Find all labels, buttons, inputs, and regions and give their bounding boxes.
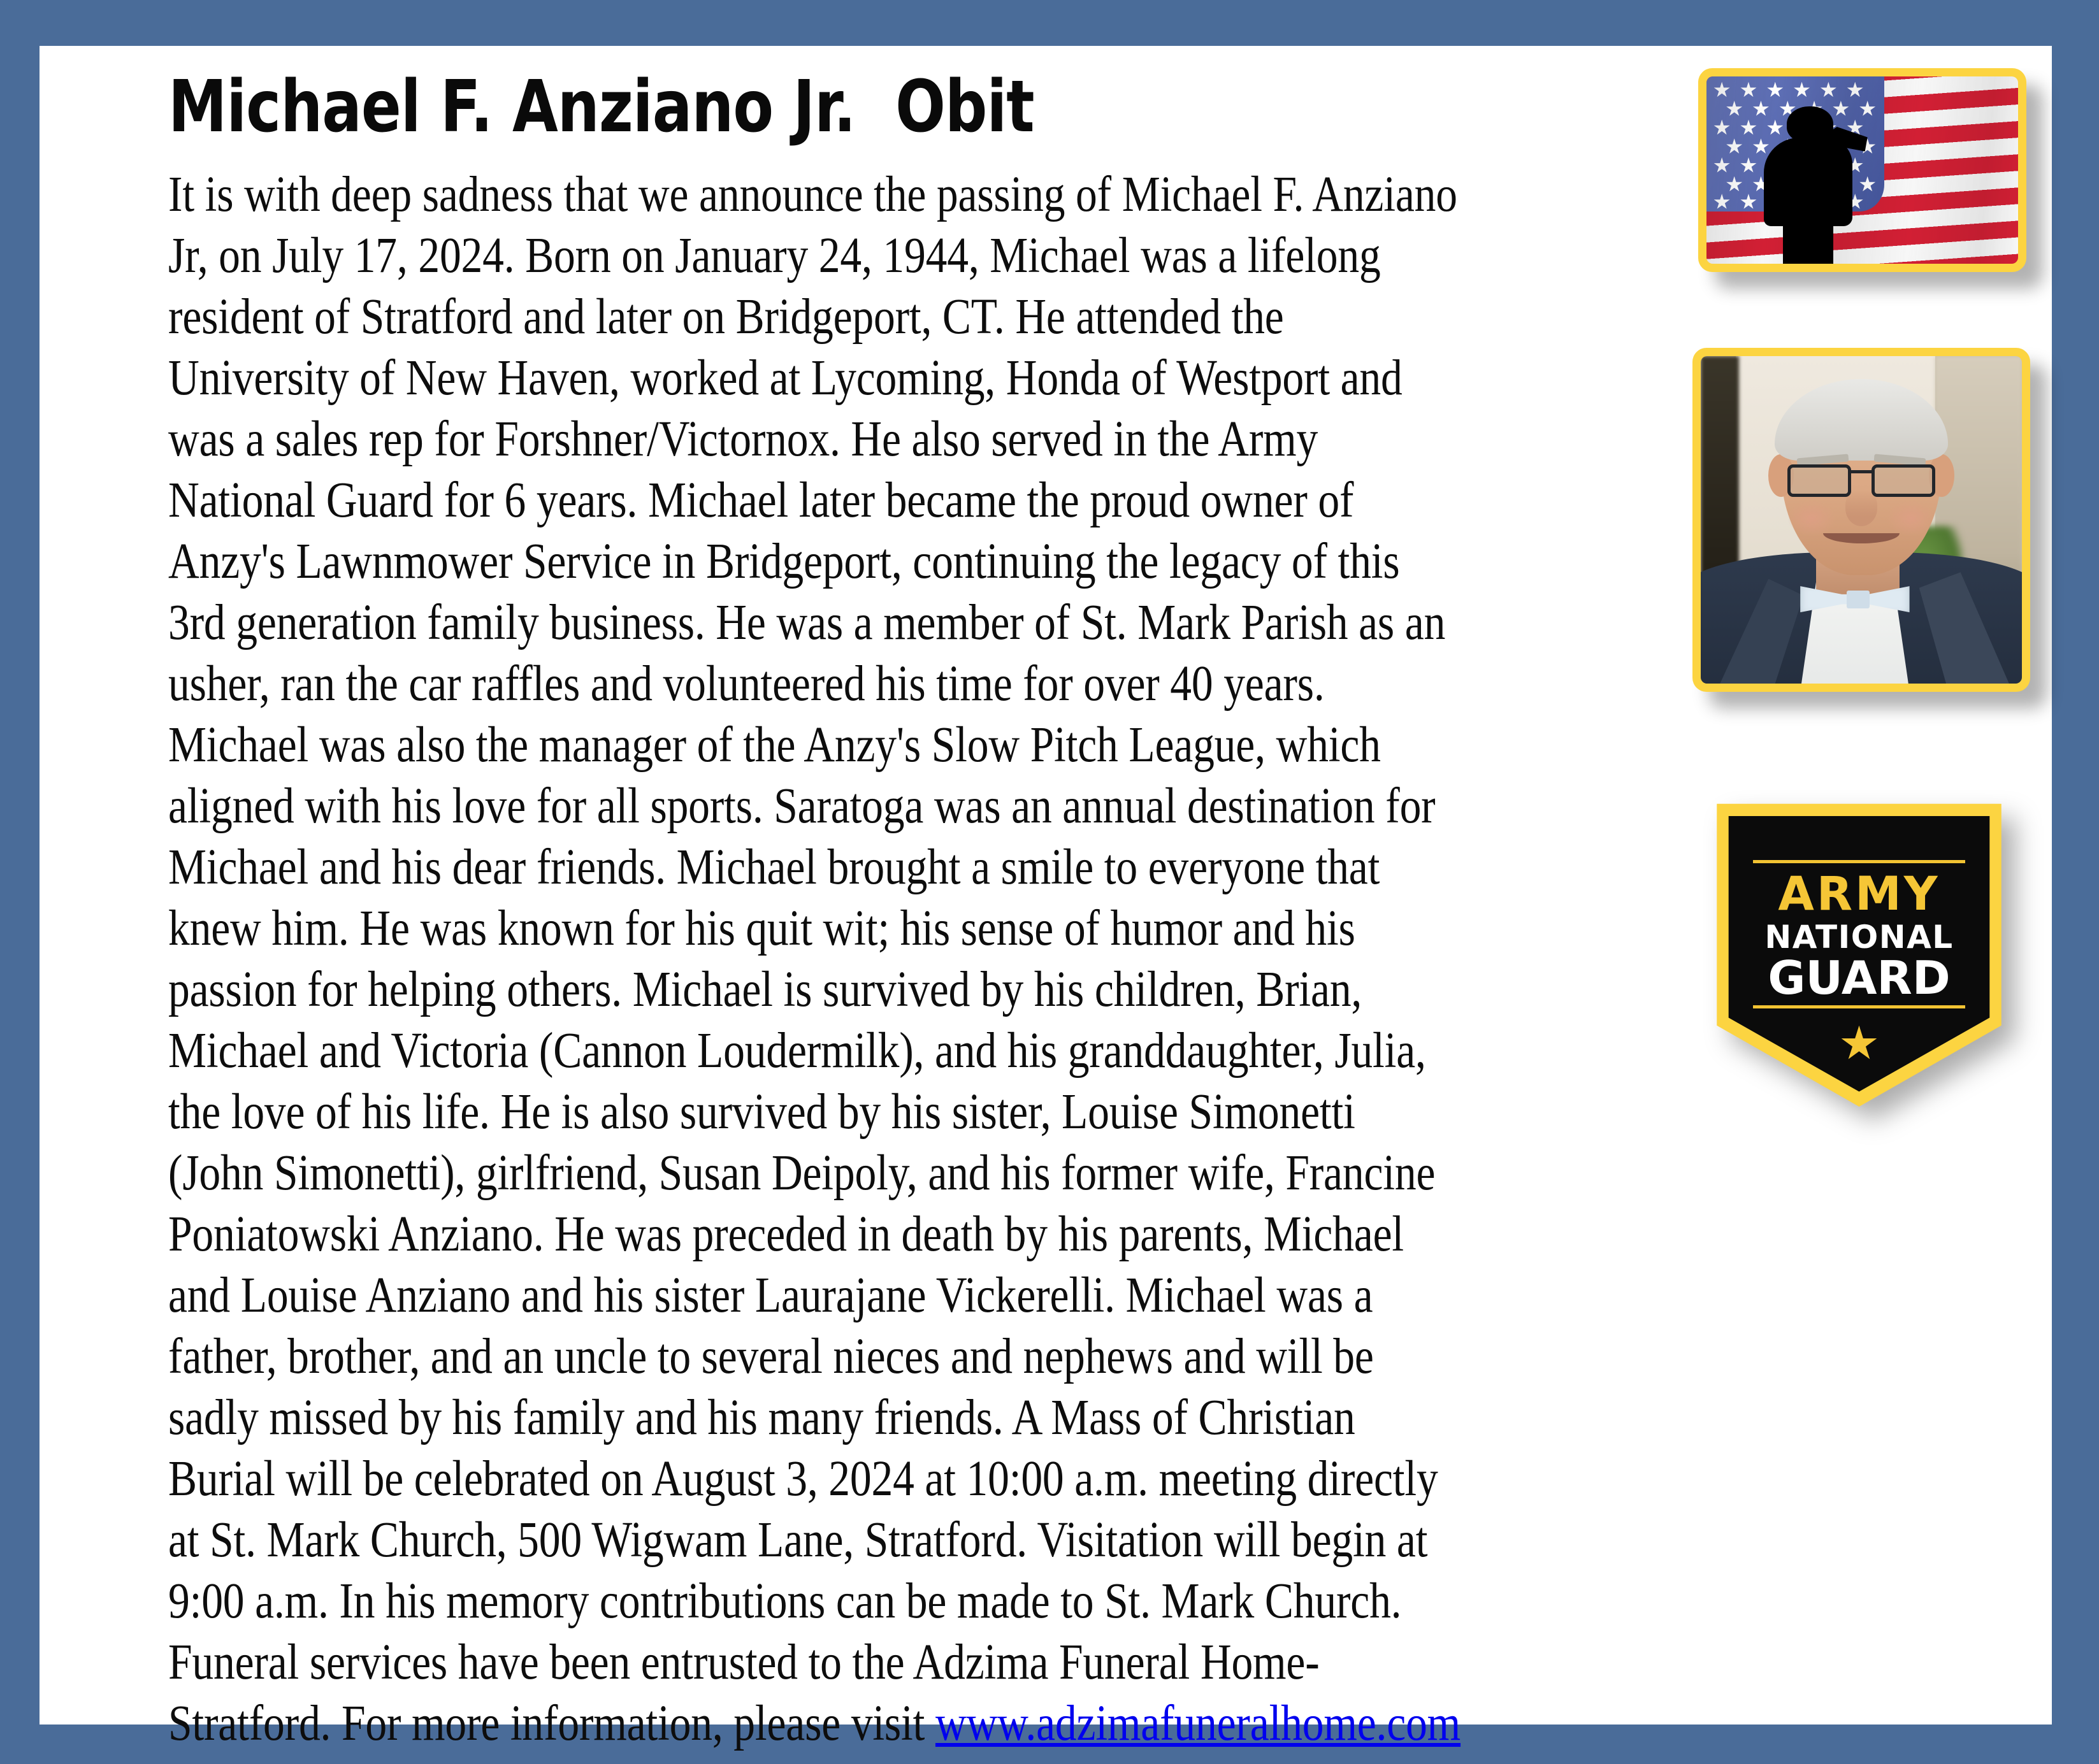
- body-line: the love of his life. He is also survive…: [168, 1082, 1432, 1143]
- saluting-soldier-flag-photo: [1698, 68, 2026, 272]
- body-line: National Guard for 6 years. Michael late…: [168, 470, 1432, 531]
- body-line: Burial will be celebrated on August 3, 2…: [168, 1449, 1432, 1510]
- body-line: aligned with his love for all sports. Sa…: [168, 776, 1432, 837]
- body-line: was a sales rep for Forshner/Victornox. …: [168, 409, 1432, 470]
- obituary-body-text: It is with deep sadness that we announce…: [168, 164, 1432, 1754]
- body-line: and Louise Anziano and his sister Lauraj…: [168, 1265, 1432, 1326]
- portrait-photo-inner: [1701, 356, 2022, 684]
- body-line: at St. Mark Church, 500 Wigwam Lane, Str…: [168, 1510, 1432, 1571]
- soldier-silhouette-icon: [1759, 106, 1865, 264]
- body-line: usher, ran the car raffles and volunteer…: [168, 654, 1432, 715]
- body-line: father, brother, and an uncle to several…: [168, 1326, 1432, 1388]
- body-line: knew him. He was known for his quit wit;…: [168, 898, 1432, 959]
- body-line: passion for helping others. Michael is s…: [168, 959, 1432, 1021]
- body-line: sadly missed by his family and his many …: [168, 1388, 1432, 1449]
- body-line: Jr, on July 17, 2024. Born on January 24…: [168, 226, 1432, 287]
- army-national-guard-logo: ARMY NATIONAL GUARD: [1708, 798, 2010, 1110]
- body-last-line-text: Stratford. For more information, please …: [168, 1696, 935, 1751]
- body-line: resident of Stratford and later on Bridg…: [168, 287, 1432, 348]
- body-line: Michael was also the manager of the Anzy…: [168, 715, 1432, 776]
- guard-label-army: ARMY: [1708, 871, 2010, 917]
- obituary-text-column: Michael F. Anziano Jr. Obit It is with d…: [130, 71, 1634, 1696]
- funeral-home-website-link[interactable]: www.adzimafuneralhome.com: [935, 1696, 1461, 1751]
- body-line: University of New Haven, worked at Lycom…: [168, 348, 1432, 409]
- obituary-page: Michael F. Anziano Jr. Obit It is with d…: [0, 0, 2099, 1764]
- body-line: Michael and his dear friends. Michael br…: [168, 837, 1432, 898]
- guard-label-national: NATIONAL: [1708, 921, 2010, 953]
- body-line: (John Simonetti), girlfriend, Susan Deip…: [168, 1143, 1432, 1204]
- body-line: Poniatowski Anziano. He was preceded in …: [168, 1204, 1432, 1265]
- body-line: Funeral services have been entrusted to …: [168, 1632, 1432, 1693]
- body-line: Anzy's Lawnmower Service in Bridgeport, …: [168, 531, 1432, 592]
- body-line: 3rd generation family business. He was a…: [168, 592, 1432, 654]
- shield-rule-bottom: [1753, 1005, 1965, 1008]
- guard-label-guard: GUARD: [1708, 955, 2010, 1001]
- flag-photo-inner: [1706, 76, 2018, 264]
- body-line: Michael and Victoria (Cannon Loudermilk)…: [168, 1021, 1432, 1082]
- body-last-line: Stratford. For more information, please …: [168, 1693, 1432, 1754]
- body-line: It is with deep sadness that we announce…: [168, 164, 1432, 226]
- deceased-portrait-photo: [1692, 348, 2030, 692]
- media-rail: ARMY NATIONAL GUARD: [1633, 46, 2079, 1725]
- page-title: Michael F. Anziano Jr. Obit: [168, 71, 1517, 143]
- obituary-paper: Michael F. Anziano Jr. Obit It is with d…: [40, 46, 2052, 1725]
- shield-rule-top: [1753, 860, 1965, 863]
- body-line: 9:00 a.m. In his memory contributions ca…: [168, 1571, 1432, 1632]
- portrait-scene: [1701, 356, 2022, 684]
